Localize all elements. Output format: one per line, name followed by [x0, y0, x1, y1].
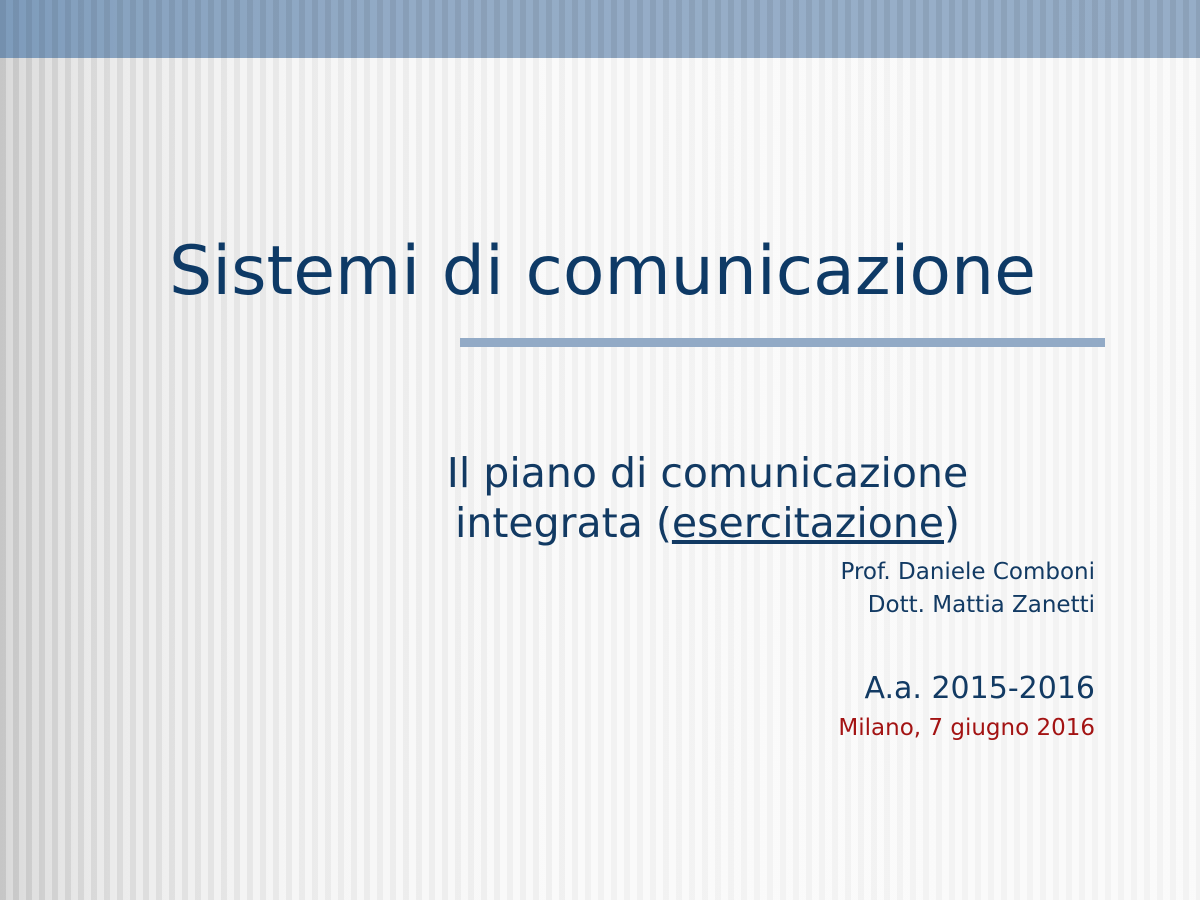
slide-title: Sistemi di comunicazione: [60, 238, 1145, 306]
presentation-slide: Sistemi di comunicazione Il piano di com…: [0, 0, 1200, 900]
place-and-date: Milano, 7 giugno 2016: [520, 713, 1095, 743]
subtitle-line-1: Il piano di comunicazione: [320, 448, 1095, 498]
top-banner-bar: [0, 0, 1200, 58]
subtitle-line-2-prefix: integrata (: [455, 499, 672, 547]
subtitle-emphasis-esercitazione: esercitazione: [672, 499, 944, 547]
author-block: Prof. Daniele Comboni Dott. Mattia Zanet…: [520, 556, 1095, 622]
slide-subtitle: Il piano di comunicazione integrata (ese…: [320, 448, 1095, 548]
academic-year: A.a. 2015-2016: [520, 671, 1095, 707]
author-primary: Prof. Daniele Comboni: [520, 556, 1095, 589]
title-underline-rule: [460, 338, 1105, 347]
author-secondary: Dott. Mattia Zanetti: [520, 589, 1095, 622]
subtitle-line-2-suffix: ): [944, 499, 960, 547]
subtitle-line-2: integrata (esercitazione): [320, 498, 1095, 548]
